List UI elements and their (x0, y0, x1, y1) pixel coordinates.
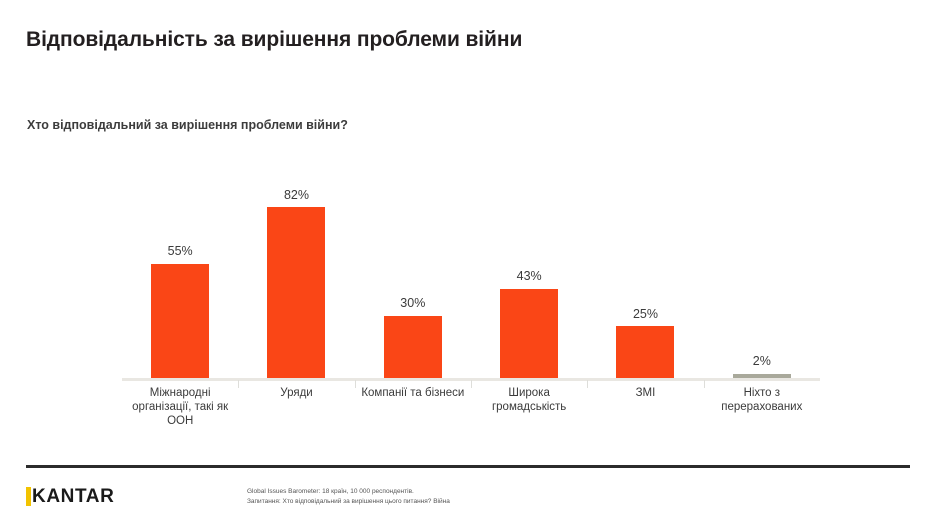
bar-value-label: 55% (168, 245, 193, 258)
bar-group: 25% (587, 150, 703, 378)
kantar-logo-accent-bar (26, 487, 31, 506)
bar-value-label: 43% (517, 270, 542, 283)
bar-group: 55% (122, 150, 238, 378)
bar-group: 30% (355, 150, 471, 378)
category-label: Міжнародні організації, такі як ООН (122, 386, 238, 428)
slide-root: Відповідальність за вирішення проблеми в… (0, 0, 936, 525)
category-label: Компанії та бізнеси (355, 386, 471, 428)
page-title: Відповідальність за вирішення проблеми в… (26, 28, 522, 52)
kantar-logo-text: KANTAR (32, 487, 114, 506)
kantar-logo: KANTAR (26, 485, 114, 507)
source-line: Запитання: Хто відповідальний за вирішен… (247, 497, 450, 507)
bar-group: 43% (471, 150, 587, 378)
category-label: Уряди (238, 386, 354, 428)
bar (616, 326, 674, 378)
bar (733, 374, 791, 378)
bar (384, 316, 442, 378)
category-label: Ніхто з перерахованих (704, 386, 820, 428)
bar (151, 264, 209, 378)
bar-group: 2% (704, 150, 820, 378)
bar-value-label: 82% (284, 189, 309, 202)
bar-series: 55%82%30%43%25%2% (122, 150, 820, 378)
source-line: Global Issues Barometer: 18 країн, 10 00… (247, 487, 450, 497)
category-label: ЗМІ (587, 386, 703, 428)
chart-question-label: Хто відповідальний за вирішення проблеми… (27, 118, 348, 132)
category-label: Широка громадськість (471, 386, 587, 428)
bar-value-label: 2% (753, 355, 771, 368)
category-axis-labels: Міжнародні організації, такі як ООНУряди… (122, 386, 820, 428)
bar-value-label: 25% (633, 308, 658, 321)
source-note: Global Issues Barometer: 18 країн, 10 00… (247, 487, 450, 506)
bar (267, 207, 325, 378)
bar-group: 82% (238, 150, 354, 378)
footer-divider (26, 465, 910, 468)
bar-value-label: 30% (400, 297, 425, 310)
bar (500, 289, 558, 378)
